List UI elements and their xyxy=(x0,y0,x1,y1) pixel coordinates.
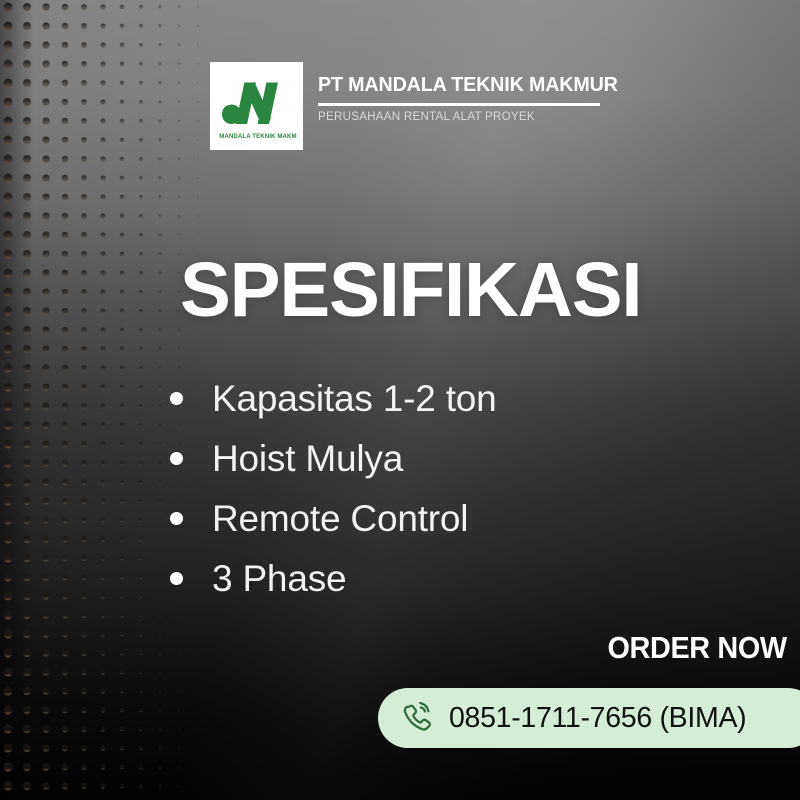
bullet-icon xyxy=(170,572,183,585)
list-item: Hoist Mulya xyxy=(170,428,497,488)
phone-ringing-icon xyxy=(400,701,434,735)
spec-label: Hoist Mulya xyxy=(212,440,403,477)
list-item: Kapasitas 1-2 ton xyxy=(170,368,497,428)
list-item: 3 Phase xyxy=(170,548,497,608)
spec-label: 3 Phase xyxy=(212,560,346,597)
spec-label: Kapasitas 1-2 ton xyxy=(212,380,497,417)
page-title: SPESIFIKASI xyxy=(180,252,641,329)
company-tagline: PERUSAHAAN RENTAL ALAT PROYEK xyxy=(318,111,630,123)
phone-number-text: 0851-1711-7656 (BIMA) xyxy=(449,704,746,733)
spec-label: Remote Control xyxy=(212,500,468,537)
brand-divider xyxy=(318,103,600,106)
company-name: PT MANDALA TEKNIK MAKMUR xyxy=(318,75,618,96)
poster-canvas: PT. MANDALA TEKNIK MAKMUR PT MANDALA TEK… xyxy=(0,0,800,800)
list-item: Remote Control xyxy=(170,488,497,548)
brand-text-block: PT MANDALA TEKNIK MAKMUR PERUSAHAAN RENT… xyxy=(318,62,630,122)
company-logo: PT. MANDALA TEKNIK MAKMUR xyxy=(210,62,303,150)
order-now-label: ORDER NOW xyxy=(608,632,787,663)
mandala-m-logo-mark xyxy=(222,82,278,124)
brand-header: PT. MANDALA TEKNIK MAKMUR PT MANDALA TEK… xyxy=(210,62,630,150)
logo-caption: PT. MANDALA TEKNIK MAKMUR xyxy=(217,133,297,140)
bullet-icon xyxy=(170,512,183,525)
specification-list: Kapasitas 1-2 ton Hoist Mulya Remote Con… xyxy=(170,368,497,608)
phone-cta-button[interactable]: 0851-1711-7656 (BIMA) xyxy=(378,688,800,748)
bullet-icon xyxy=(170,452,183,465)
bullet-icon xyxy=(170,392,183,405)
